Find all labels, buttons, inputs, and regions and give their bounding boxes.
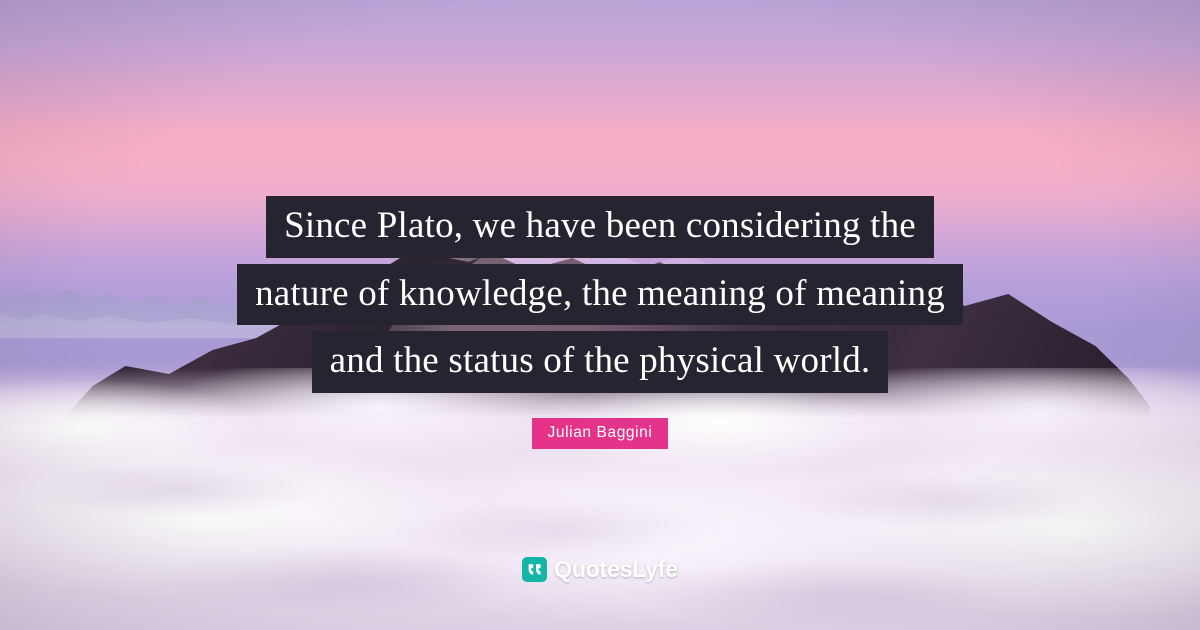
- quote-mark-icon: [522, 557, 547, 582]
- author-badge-wrap: Julian Baggini: [0, 418, 1200, 449]
- quote-line-text: nature of knowledge, the meaning of mean…: [237, 264, 963, 326]
- author-name-badge: Julian Baggini: [532, 418, 669, 449]
- quote-text-block: Since Plato, we have been considering th…: [0, 196, 1200, 399]
- quote-line: and the status of the physical world.: [0, 331, 1200, 393]
- quote-line-text: and the status of the physical world.: [312, 331, 889, 393]
- quote-image-canvas: Since Plato, we have been considering th…: [0, 0, 1200, 630]
- brand-name: QuotesLyfe: [554, 556, 678, 583]
- brand-logo: QuotesLyfe: [0, 556, 1200, 583]
- quote-line: nature of knowledge, the meaning of mean…: [0, 264, 1200, 326]
- quote-line: Since Plato, we have been considering th…: [0, 196, 1200, 258]
- quote-line-text: Since Plato, we have been considering th…: [266, 196, 934, 258]
